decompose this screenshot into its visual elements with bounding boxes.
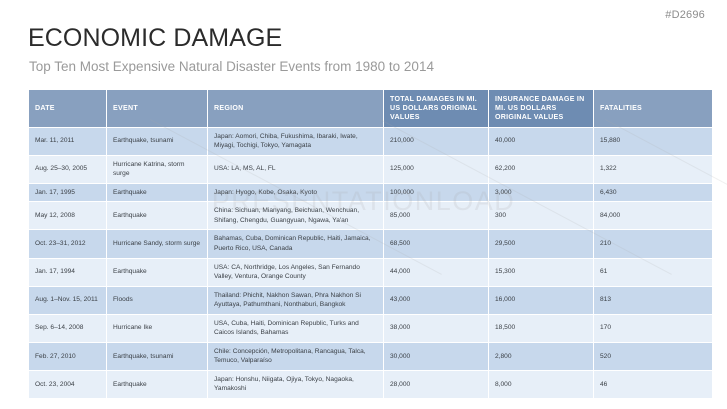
- cell-total-damages: 125,000: [384, 156, 488, 183]
- cell-date: Sep. 6–14, 2008: [29, 315, 106, 342]
- table-row[interactable]: Jan. 17, 1994EarthquakeUSA: CA, Northrid…: [29, 259, 712, 286]
- cell-fatalities: 15,880: [594, 128, 712, 155]
- cell-insurance-damage: 8,000: [489, 371, 593, 398]
- cell-date: Mar. 11, 2011: [29, 128, 106, 155]
- cell-region: Japan: Aomori, Chiba, Fukushima, Ibaraki…: [208, 128, 383, 155]
- cell-total-damages: 210,000: [384, 128, 488, 155]
- cell-total-damages: 28,000: [384, 371, 488, 398]
- economic-damage-table: DATE EVENT REGION TOTAL DAMAGES IN MI. U…: [28, 89, 713, 399]
- slide-id-label: #D2696: [665, 9, 705, 21]
- table-row[interactable]: Mar. 11, 2011Earthquake, tsunamiJapan: A…: [29, 128, 712, 155]
- cell-region: Bahamas, Cuba, Dominican Republic, Haiti…: [208, 230, 383, 257]
- cell-total-damages: 68,500: [384, 230, 488, 257]
- table-row[interactable]: May 12, 2008EarthquakeChina: Sichuan, Mi…: [29, 202, 712, 229]
- cell-total-damages: 30,000: [384, 343, 488, 370]
- column-header-date[interactable]: DATE: [29, 90, 106, 127]
- cell-fatalities: 520: [594, 343, 712, 370]
- cell-total-damages: 43,000: [384, 287, 488, 314]
- cell-date: Aug. 1–Nov. 15, 2011: [29, 287, 106, 314]
- table-body: Mar. 11, 2011Earthquake, tsunamiJapan: A…: [29, 128, 712, 398]
- cell-insurance-damage: 62,200: [489, 156, 593, 183]
- cell-insurance-damage: 2,800: [489, 343, 593, 370]
- cell-event: Earthquake, tsunami: [107, 343, 207, 370]
- column-header-fatalities[interactable]: FATALITIES: [594, 90, 712, 127]
- cell-fatalities: 84,000: [594, 202, 712, 229]
- column-header-region[interactable]: REGION: [208, 90, 383, 127]
- column-header-event[interactable]: EVENT: [107, 90, 207, 127]
- page-title: ECONOMIC DAMAGE: [28, 25, 282, 53]
- cell-total-damages: 44,000: [384, 259, 488, 286]
- cell-fatalities: 170: [594, 315, 712, 342]
- table-row[interactable]: Jan. 17, 1995EarthquakeJapan: Hyogo, Kob…: [29, 184, 712, 202]
- cell-total-damages: 38,000: [384, 315, 488, 342]
- cell-insurance-damage: 3,000: [489, 184, 593, 202]
- table-row[interactable]: Oct. 23–31, 2012Hurricane Sandy, storm s…: [29, 230, 712, 257]
- column-header-total-damages[interactable]: TOTAL DAMAGES IN MI. US DOLLARS ORIGINAL…: [384, 90, 488, 127]
- page-subtitle: Top Ten Most Expensive Natural Disaster …: [29, 59, 434, 75]
- table-header-row: DATE EVENT REGION TOTAL DAMAGES IN MI. U…: [29, 90, 712, 127]
- cell-event: Earthquake: [107, 202, 207, 229]
- cell-event: Hurricane Ike: [107, 315, 207, 342]
- cell-region: Japan: Honshu, Niigata, Ojiya, Tokyo, Na…: [208, 371, 383, 398]
- cell-event: Earthquake, tsunami: [107, 128, 207, 155]
- cell-region: USA: CA, Northridge, Los Angeles, San Fe…: [208, 259, 383, 286]
- cell-region: Thailand: Phichit, Nakhon Sawan, Phra Na…: [208, 287, 383, 314]
- cell-event: Hurricane Katrina, storm surge: [107, 156, 207, 183]
- cell-fatalities: 1,322: [594, 156, 712, 183]
- table-row[interactable]: Aug. 25–30, 2005Hurricane Katrina, storm…: [29, 156, 712, 183]
- cell-date: Oct. 23–31, 2012: [29, 230, 106, 257]
- cell-event: Earthquake: [107, 184, 207, 202]
- cell-date: May 12, 2008: [29, 202, 106, 229]
- cell-region: Chile: Concepción, Metropolitana, Rancag…: [208, 343, 383, 370]
- cell-fatalities: 813: [594, 287, 712, 314]
- cell-insurance-damage: 300: [489, 202, 593, 229]
- column-header-insurance-damage[interactable]: INSURANCE DAMAGE IN MI. US DOLLARS ORIGI…: [489, 90, 593, 127]
- cell-insurance-damage: 16,000: [489, 287, 593, 314]
- cell-fatalities: 61: [594, 259, 712, 286]
- cell-event: Earthquake: [107, 371, 207, 398]
- cell-total-damages: 100,000: [384, 184, 488, 202]
- cell-fatalities: 46: [594, 371, 712, 398]
- cell-insurance-damage: 18,500: [489, 315, 593, 342]
- slide-canvas: #D2696 ECONOMIC DAMAGE Top Ten Most Expe…: [0, 0, 727, 409]
- table-row[interactable]: Oct. 23, 2004EarthquakeJapan: Honshu, Ni…: [29, 371, 712, 398]
- cell-fatalities: 210: [594, 230, 712, 257]
- cell-date: Aug. 25–30, 2005: [29, 156, 106, 183]
- cell-insurance-damage: 15,300: [489, 259, 593, 286]
- cell-event: Earthquake: [107, 259, 207, 286]
- cell-date: Oct. 23, 2004: [29, 371, 106, 398]
- cell-fatalities: 6,430: [594, 184, 712, 202]
- economic-damage-table-wrapper: DATE EVENT REGION TOTAL DAMAGES IN MI. U…: [28, 89, 706, 399]
- cell-date: Jan. 17, 1994: [29, 259, 106, 286]
- cell-total-damages: 85,000: [384, 202, 488, 229]
- cell-region: China: Sichuan, Mianyang, Beichuan, Wenc…: [208, 202, 383, 229]
- cell-date: Feb. 27, 2010: [29, 343, 106, 370]
- table-row[interactable]: Feb. 27, 2010Earthquake, tsunamiChile: C…: [29, 343, 712, 370]
- cell-event: Hurricane Sandy, storm surge: [107, 230, 207, 257]
- cell-date: Jan. 17, 1995: [29, 184, 106, 202]
- cell-region: USA: LA, MS, AL, FL: [208, 156, 383, 183]
- cell-insurance-damage: 40,000: [489, 128, 593, 155]
- table-row[interactable]: Sep. 6–14, 2008Hurricane IkeUSA, Cuba, H…: [29, 315, 712, 342]
- cell-region: Japan: Hyogo, Kobe, Osaka, Kyoto: [208, 184, 383, 202]
- cell-insurance-damage: 29,500: [489, 230, 593, 257]
- cell-region: USA, Cuba, Haiti, Dominican Republic, Tu…: [208, 315, 383, 342]
- table-row[interactable]: Aug. 1–Nov. 15, 2011FloodsThailand: Phic…: [29, 287, 712, 314]
- cell-event: Floods: [107, 287, 207, 314]
